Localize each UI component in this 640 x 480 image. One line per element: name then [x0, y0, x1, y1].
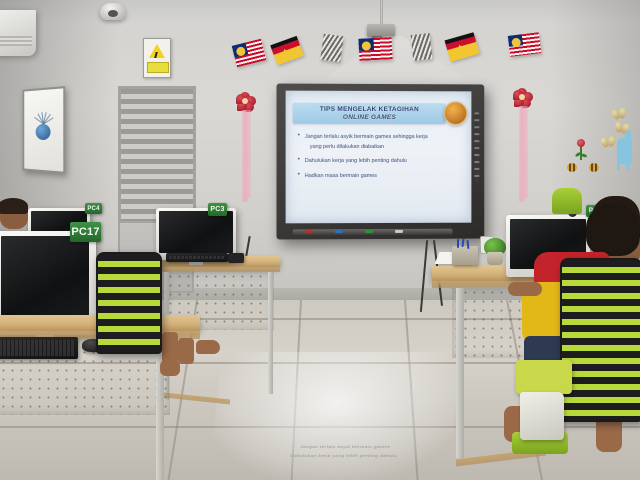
pen-holder[interactable] [452, 246, 478, 265]
poster-rays [24, 88, 63, 91]
slide-title-bar: TIPS MENGELAK KETAGIHAN ONLINE GAMES [293, 103, 446, 124]
globe-icon [36, 124, 51, 140]
center-desk-device [228, 253, 244, 263]
slide-bullet-1-text: Jangan terlalu asyik bermain games sehin… [305, 134, 428, 140]
student-chair-right[interactable] [560, 258, 640, 422]
butterfly-decor-3 [600, 135, 615, 147]
slide-bullet-1: Jangan terlalu asyik bermain games sehin… [298, 133, 462, 152]
slide-title-line2: ONLINE GAMES [343, 113, 396, 121]
interactive-smartboard[interactable]: TIPS MENGELAK KETAGIHAN ONLINE GAMES Jan… [277, 84, 485, 240]
pc-label-far-left: PC4 [85, 203, 102, 214]
smartboard-side-buttons[interactable] [474, 112, 479, 182]
student-chair-left[interactable] [96, 252, 162, 354]
slide-bullet-list: Jangan terlalu asyik bermain games sehin… [298, 133, 462, 186]
wall-air-conditioner [0, 10, 36, 56]
student-chair-right-seat[interactable] [516, 360, 572, 394]
louvered-wall-vent [118, 86, 196, 227]
slide-bullet-2: Dahulukan kerja yang lebih penting dahul… [298, 157, 462, 167]
bee-decor-2 [589, 163, 599, 172]
desktop-keyboard-center[interactable] [166, 253, 228, 262]
slide-seal-icon [444, 101, 468, 125]
warning-triangle-icon [149, 44, 165, 58]
giraffe-decor [617, 138, 632, 164]
presentation-slide: TIPS MENGELAK KETAGIHAN ONLINE GAMES Jan… [286, 91, 472, 224]
daisy-flower-decor [574, 137, 587, 150]
slide-title-line1: TIPS MENGELAK KETAGIHAN [320, 105, 419, 113]
floor-bag[interactable] [520, 392, 564, 440]
smartboard-screen[interactable]: TIPS MENGELAK KETAGIHAN ONLINE GAMES Jan… [286, 91, 472, 224]
pc-label-near-left: PC17 [70, 222, 101, 242]
slide-bullet-1-cont: yang perlu dilakukan diabaikan [305, 142, 462, 152]
bee-decor-1 [567, 163, 577, 172]
classroom-scene: Jangan terlalu asyik bermain games Dahul… [0, 0, 640, 480]
monochrome-flag-left [320, 34, 343, 63]
desk-plant-pot [487, 252, 503, 265]
monochrome-flag-right [411, 33, 433, 61]
slide-bullet-2-text: Dahulukan kerja yang lebih penting dahul… [305, 158, 407, 164]
pc-label-center: PC3 [208, 203, 227, 216]
warning-sign-label [147, 62, 169, 73]
hibiscus-decor-left [236, 92, 256, 112]
ribbon-right-b [524, 106, 528, 198]
malaysia-flag-center [358, 37, 392, 61]
vent-slats [121, 89, 193, 224]
earth-globe-poster [23, 86, 66, 174]
smartboard-pen-tray[interactable] [293, 229, 453, 236]
desktop-keyboard-left[interactable] [0, 337, 78, 359]
ceiling-dome-camera [100, 3, 126, 20]
malaysia-flag-right [508, 32, 541, 57]
hibiscus-decor-right [513, 88, 533, 108]
lime-stool[interactable] [552, 188, 582, 214]
slide-bullet-3-text: Hadkan masa bermain games [305, 173, 377, 179]
ribbon-left-b [247, 110, 251, 198]
electrical-hazard-warning-sign [143, 38, 171, 78]
slide-bullet-3: Hadkan masa bermain games [298, 171, 462, 181]
